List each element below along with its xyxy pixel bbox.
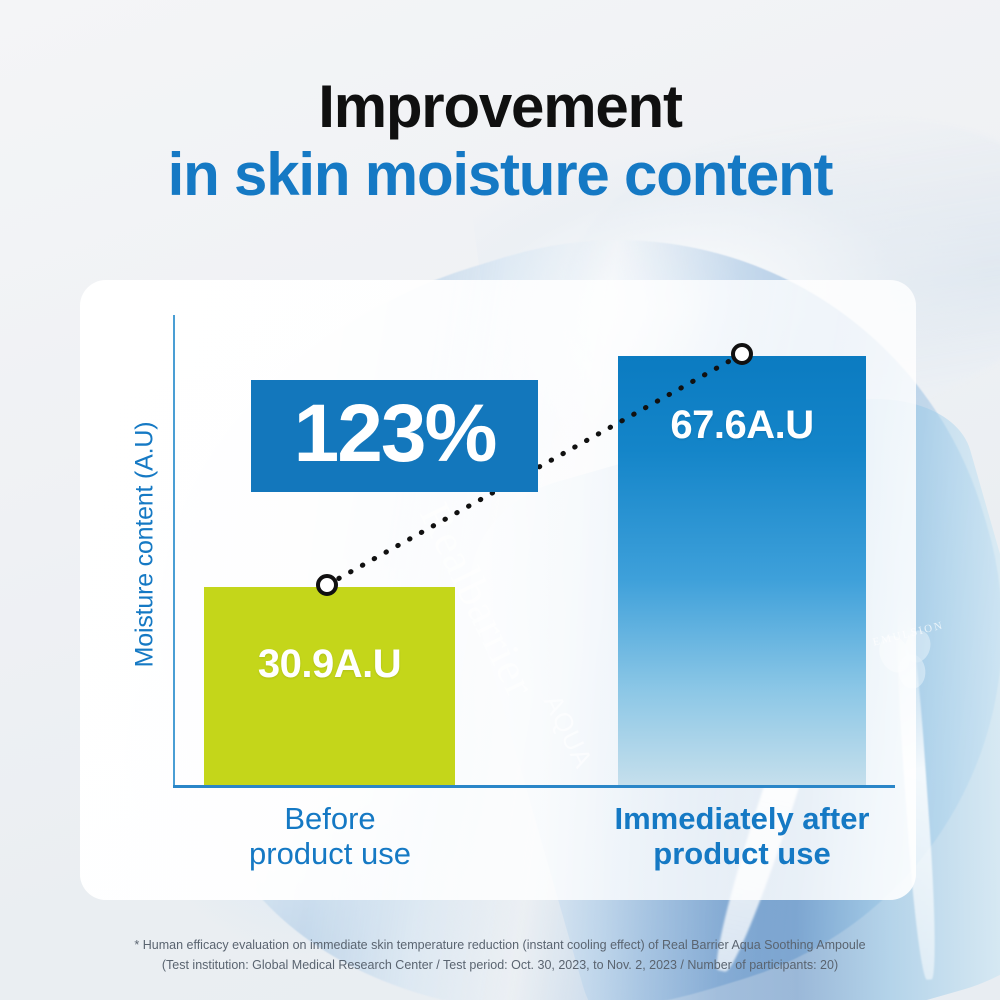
y-axis-line <box>173 315 175 787</box>
improvement-percent-badge: 123% <box>251 380 538 492</box>
bar-value-label-before: 30.9A.U <box>204 642 455 687</box>
bar-before-product-use: 30.9A.U <box>204 587 455 785</box>
footnote-line-1: * Human efficacy evaluation on immediate… <box>0 935 1000 955</box>
x-axis-line <box>173 785 895 788</box>
footnote-line-2: (Test institution: Global Medical Resear… <box>0 955 1000 975</box>
footnote: * Human efficacy evaluation on immediate… <box>0 935 1000 976</box>
x-axis-category-label-before: Before product use <box>195 802 465 871</box>
infographic-canvas: Realbarrier AQUA EMULSION Improvement in… <box>0 0 1000 1000</box>
bar-value-label-after: 67.6A.U <box>618 403 866 448</box>
y-axis-label: Moisture content (A.U) <box>131 395 160 695</box>
data-point-marker-before <box>316 574 338 596</box>
data-point-marker-after <box>731 343 753 365</box>
chart-plot-area: Moisture content (A.U) 30.9A.U 67.6A.U 1… <box>0 0 1000 1000</box>
improvement-percent-text: 123% <box>294 393 496 475</box>
bar-after-product-use: 67.6A.U <box>618 356 866 785</box>
x-axis-category-label-after: Immediately after product use <box>575 802 909 871</box>
